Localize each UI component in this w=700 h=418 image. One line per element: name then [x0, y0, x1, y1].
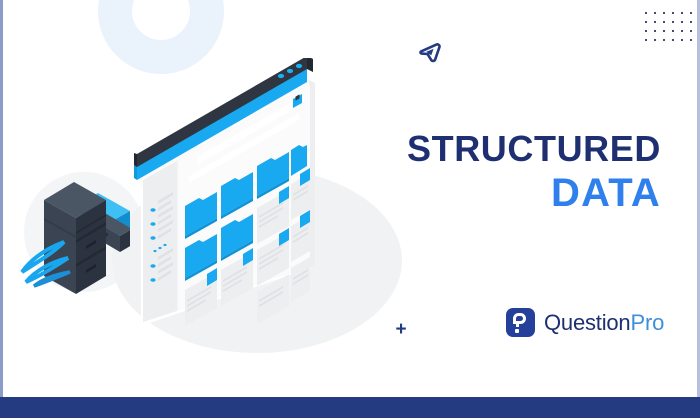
- send-triangle-icon: [418, 40, 442, 64]
- brand-wordmark: QuestionPro: [544, 312, 664, 334]
- dot-grid-decoration: [645, 12, 699, 48]
- questionpro-mark-icon: [506, 308, 535, 337]
- banner-canvas: + STRUCTURED DATA QuestionPro: [0, 0, 700, 418]
- headline-line-1: STRUCTURED: [399, 129, 661, 169]
- page-title: STRUCTURED DATA: [399, 129, 661, 215]
- questionpro-logo[interactable]: QuestionPro: [506, 308, 664, 337]
- plus-icon: +: [393, 322, 409, 338]
- left-edge-strip: [0, 0, 3, 418]
- mark-p-stem: [516, 322, 519, 327]
- isometric-browser-window: [133, 58, 319, 326]
- mark-dot: [515, 329, 519, 333]
- brand-name-secondary: Pro: [630, 310, 664, 335]
- brand-name-primary: Question: [544, 310, 630, 335]
- headline-line-2: DATA: [399, 171, 661, 215]
- blue-swoosh-decoration: [18, 236, 76, 294]
- bottom-accent-bar: [0, 397, 700, 418]
